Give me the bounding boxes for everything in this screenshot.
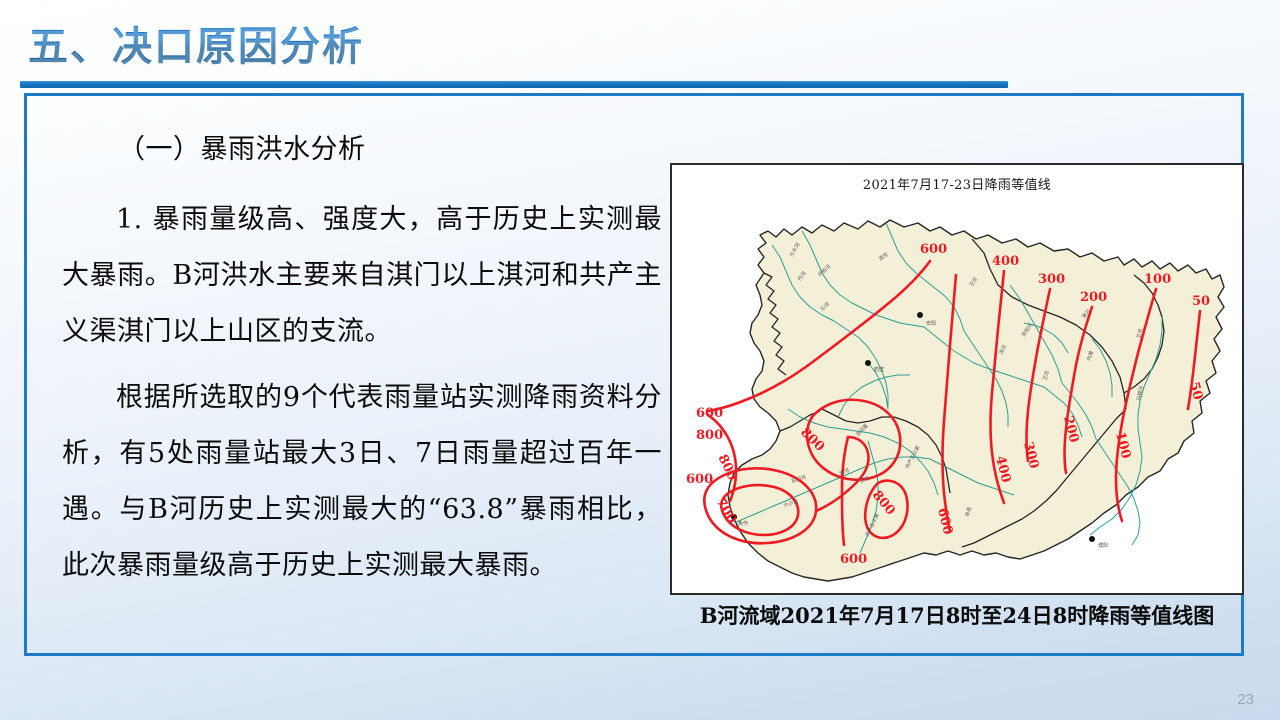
place-label-hebi: 鹤壁 — [874, 366, 884, 373]
section-subheading: （一）暴雨洪水分析 — [62, 122, 662, 178]
figure-caption: B河流域2021年7月17日8时至24日8时降雨等值线图 — [662, 600, 1252, 630]
contour-label-600-s: 600 — [840, 552, 867, 567]
contour-label-200-n: 200 — [1080, 290, 1107, 305]
contour-label-600-w: 600 — [696, 406, 723, 421]
contour-label-50-n: 50 — [1192, 294, 1210, 309]
contour-label-400-n: 400 — [992, 254, 1019, 269]
city-marker-anyang — [917, 312, 923, 318]
title-divider — [20, 81, 1008, 88]
contour-label-600-n: 600 — [920, 242, 947, 257]
contour-label-100-n: 100 — [1144, 272, 1171, 287]
map-frame: 2021年7月17-23日降雨等值线 — [670, 163, 1244, 595]
rainfall-contour-figure: 2021年7月17-23日降雨等值线 — [670, 163, 1244, 595]
place-label-anyang: 安阳 — [926, 320, 936, 327]
body-text-column: （一）暴雨洪水分析 1. 暴雨量级高、强度大，高于历史上实测最大暴雨。B河洪水主… — [62, 122, 662, 604]
contour-label-600-sw: 600 — [686, 472, 713, 487]
city-marker-hebi — [865, 360, 871, 366]
contour-label-800-w: 800 — [696, 428, 723, 443]
page-title: 五、决口原因分析 — [28, 14, 364, 72]
paragraph-1: 1. 暴雨量级高、强度大，高于历史上实测最大暴雨。B河洪水主要来自淇门以上淇河和… — [62, 192, 662, 360]
page-number: 23 — [1237, 691, 1254, 708]
contour-label-300-n: 300 — [1038, 272, 1065, 287]
paragraph-2: 根据所选取的9个代表雨量站实测降雨资料分析，有5处雨量站最大3日、7日雨量超过百… — [62, 370, 662, 594]
contour-map-svg: 600 400 300 200 100 50 600 800 600 600 8… — [672, 165, 1244, 595]
city-marker-puyang — [1089, 536, 1095, 542]
place-label-puyang: 濮阳 — [1098, 542, 1108, 549]
place-label-jiaozuo: 焦作 — [738, 520, 748, 527]
